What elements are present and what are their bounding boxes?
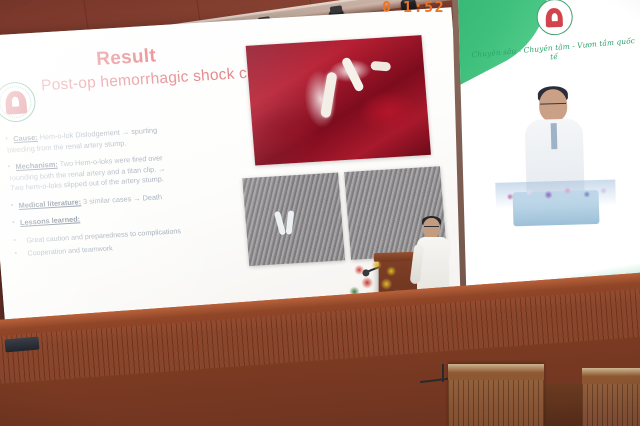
speaker-tie	[551, 123, 558, 149]
foreground-desk-left	[448, 364, 544, 426]
sub-bullet-text: Cooperation and teamwork	[27, 245, 113, 258]
clip-pair-icon	[276, 210, 298, 237]
hospital-circular-logo	[0, 81, 37, 123]
panel-flower-row	[495, 180, 616, 209]
hem-o-lok-clip-photo-left	[242, 172, 345, 266]
titanium-clip-icon	[371, 61, 392, 72]
foreground-desk-right	[582, 368, 640, 426]
bullet-mechanism: Mechanism:Two Hem-o-loks were fired over…	[6, 148, 248, 194]
slide-subtitle: Post-op hemorrhagic shock case	[41, 63, 274, 95]
bullet-lead: Cause:	[13, 133, 38, 143]
glasses-icon	[424, 226, 439, 230]
bullet-lead: Lessons learned:	[20, 215, 81, 228]
hem-o-lok-clip-icon	[320, 72, 337, 119]
bullet-lead: Medical literature:	[18, 197, 81, 210]
hospital-circular-logo	[536, 0, 573, 36]
slide-title: Result	[95, 45, 157, 71]
glasses-icon	[540, 103, 566, 110]
surgical-field-photo	[246, 35, 431, 165]
bullet-body: 3 similar cases → Death	[83, 192, 163, 206]
countdown-timer: 0 1:52	[382, 0, 445, 16]
slide-bullet-list: Cause:Hem-o-lok Dislodgement → spurting …	[4, 120, 254, 263]
conference-photo-scene: Result Post-op hemorrhagic shock case Ca…	[0, 0, 640, 426]
hem-o-lok-clip-icon	[341, 56, 365, 92]
bullet-lead: Mechanism:	[15, 160, 58, 172]
